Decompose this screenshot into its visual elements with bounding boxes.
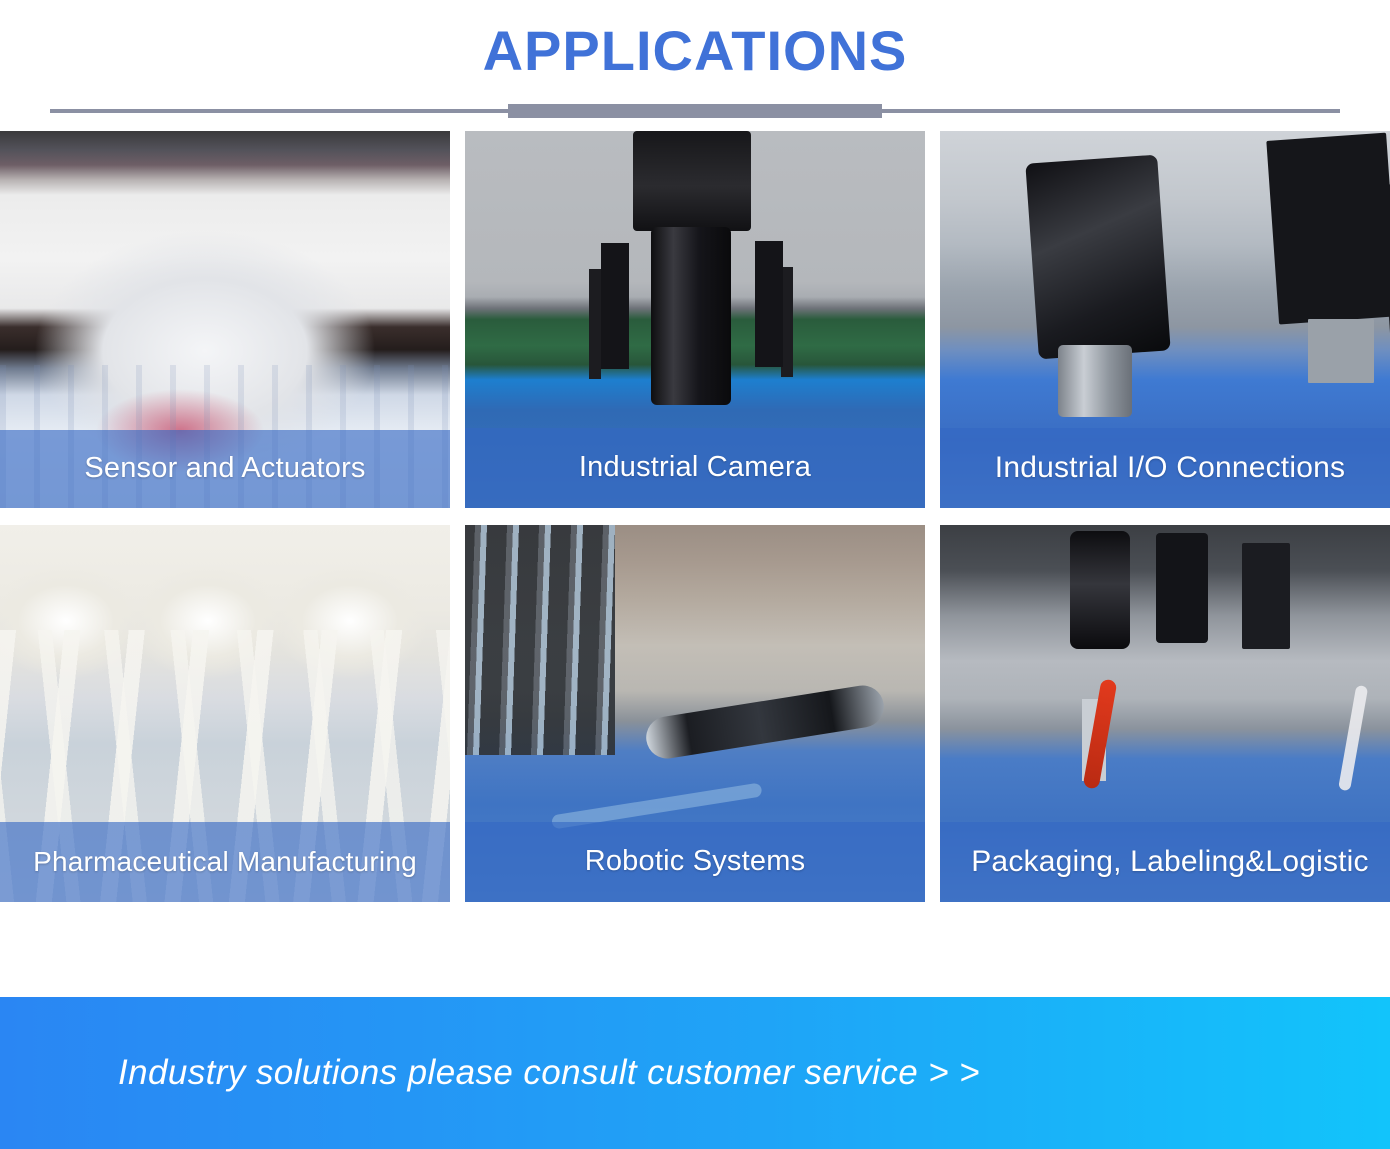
title-divider xyxy=(0,95,1390,129)
card-caption: Sensor and Actuators xyxy=(0,452,450,485)
card-caption: Industrial Camera xyxy=(465,451,925,484)
divider-thick-bar xyxy=(508,104,882,118)
caption-overlay: Sensor and Actuators xyxy=(0,430,450,508)
caption-overlay: Industrial Camera xyxy=(465,428,925,508)
application-card-packaging-labeling-logistic[interactable]: Packaging, Labeling&Logistic xyxy=(940,525,1390,902)
application-card-robotic-systems[interactable]: Robotic Systems xyxy=(465,525,925,902)
caption-overlay: Industrial I/O Connections xyxy=(940,428,1390,508)
card-caption: Industrial I/O Connections xyxy=(940,451,1390,485)
page-header: APPLICATIONS xyxy=(0,0,1390,81)
consult-customer-service-banner[interactable]: Industry solutions please consult custom… xyxy=(0,997,1390,1149)
caption-overlay: Robotic Systems xyxy=(465,822,925,902)
card-caption: Pharmaceutical Manufacturing xyxy=(0,846,450,878)
card-caption: Robotic Systems xyxy=(465,845,925,878)
application-card-industrial-io-connections[interactable]: Industrial I/O Connections xyxy=(940,131,1390,508)
card-caption: Packaging, Labeling&Logistic xyxy=(940,845,1390,879)
page-title: APPLICATIONS xyxy=(0,22,1390,81)
caption-overlay: Packaging, Labeling&Logistic xyxy=(940,822,1390,902)
cta-text: Industry solutions please consult custom… xyxy=(118,1053,980,1093)
application-card-pharmaceutical-manufacturing[interactable]: Pharmaceutical Manufacturing xyxy=(0,525,450,902)
caption-overlay: Pharmaceutical Manufacturing xyxy=(0,822,450,902)
application-card-sensor-and-actuators[interactable]: Sensor and Actuators xyxy=(0,131,450,508)
application-card-industrial-camera[interactable]: Industrial Camera xyxy=(465,131,925,508)
applications-grid: Sensor and Actuators Industrial Camera I… xyxy=(0,131,1390,902)
